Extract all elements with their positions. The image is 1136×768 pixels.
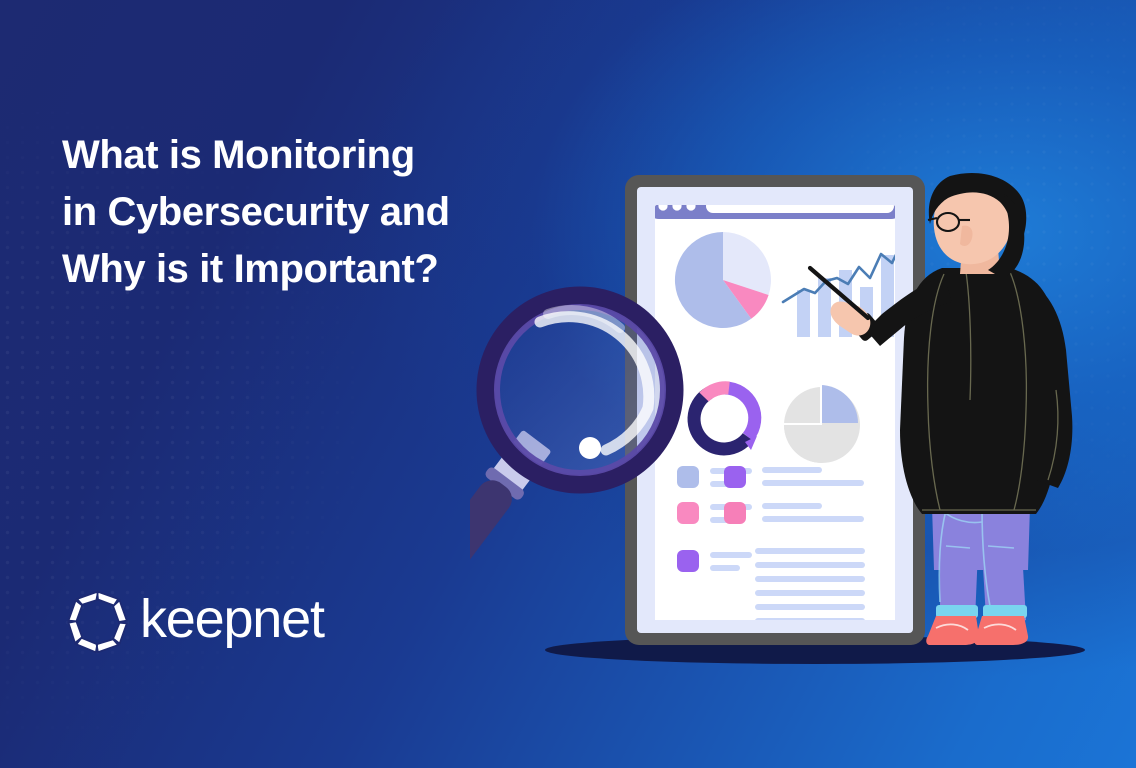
legend-line bbox=[762, 516, 864, 522]
legend-swatch bbox=[677, 502, 699, 524]
legend-swatch bbox=[724, 466, 746, 488]
brand-logo[interactable]: keepnet bbox=[62, 586, 324, 658]
pie-chart-top-left bbox=[675, 232, 771, 328]
jeans-block bbox=[932, 506, 1030, 570]
legend-swatch bbox=[677, 550, 699, 572]
legend-line bbox=[710, 552, 752, 558]
legend-line bbox=[762, 503, 822, 509]
hero-illustration bbox=[470, 150, 1136, 710]
lens-highlight-dot bbox=[579, 437, 601, 459]
keepnet-aperture-icon bbox=[62, 586, 134, 658]
bar bbox=[797, 290, 810, 337]
banner-canvas: What is Monitoring in Cybersecurity and … bbox=[0, 0, 1136, 768]
legend-line bbox=[710, 565, 740, 571]
legend-swatch bbox=[724, 502, 746, 524]
legend-swatch bbox=[677, 466, 699, 488]
legend-line bbox=[762, 467, 822, 473]
brand-wordmark: keepnet bbox=[140, 592, 324, 652]
shoe-right bbox=[974, 616, 1028, 645]
shoe-left bbox=[926, 616, 979, 645]
legend-line bbox=[762, 480, 864, 486]
